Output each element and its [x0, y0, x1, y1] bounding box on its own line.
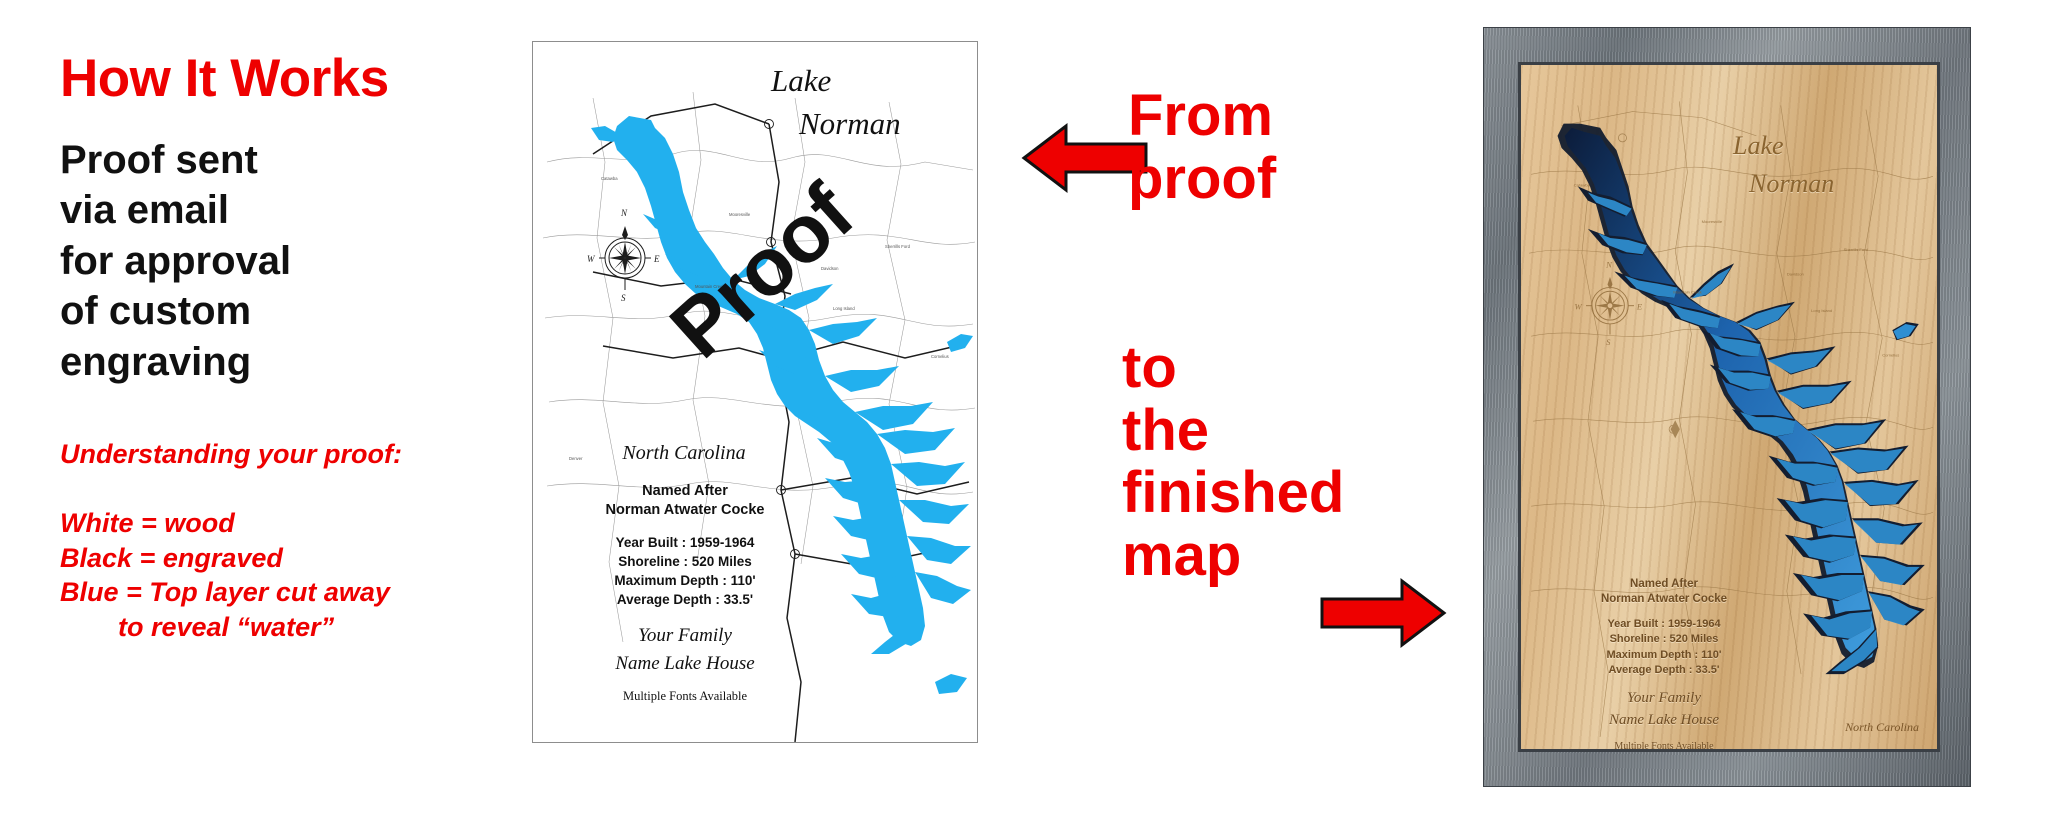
- proof-script-text: Your Family Name Lake House: [563, 622, 807, 677]
- wood-stat-average-depth: Average Depth : 33.5': [1559, 663, 1769, 678]
- proof-state-label: North Carolina: [569, 442, 799, 465]
- wood-script-text: Your Family Name Lake House: [1559, 688, 1769, 732]
- wood-named-after-label: Named After: [1559, 577, 1769, 592]
- wood-compass-label-s: S: [1606, 337, 1611, 346]
- compass-label-s: S: [621, 293, 626, 302]
- step-line: of custom: [60, 286, 480, 336]
- proof-stat-average-depth: Average Depth : 33.5': [563, 590, 807, 609]
- svg-text:Mountain Creek: Mountain Creek: [1673, 290, 1703, 295]
- proof-map-panel: .rd{fill:none;stroke:#4a4a4a;stroke-widt…: [532, 41, 978, 743]
- proof-named-after-value: Norman Atwater Cocke: [563, 501, 807, 520]
- wood-compass-label-w: W: [1574, 302, 1582, 312]
- wood-fonts-note: Multiple Fonts Available: [1559, 741, 1769, 749]
- proof-stats: Year Built : 1959-1964 Shoreline : 520 M…: [563, 533, 807, 610]
- compass-label-w: W: [587, 254, 596, 264]
- svg-text:Catawba: Catawba: [1574, 182, 1591, 187]
- svg-text:Mooresville: Mooresville: [729, 212, 751, 217]
- from-proof-line2: proof: [1128, 148, 1276, 211]
- wood-lake-title-line1: Lake: [1733, 131, 1784, 160]
- wood-compass-label-e: E: [1636, 302, 1643, 312]
- legend-item-blue: Blue = Top layer cut away: [60, 575, 480, 610]
- to-finished-map-caption: to the finished map: [1122, 337, 1344, 588]
- proof-lake-title: Lake Norman: [771, 60, 971, 146]
- wood-lake-title-line2: Norman: [1733, 165, 1923, 203]
- proof-stat-shoreline: Shoreline : 520 Miles: [563, 552, 807, 571]
- step-line: engraving: [60, 337, 480, 387]
- step-line: for approval: [60, 236, 480, 286]
- wood-stat-shoreline: Shoreline : 520 Miles: [1559, 632, 1769, 647]
- compass-label-n: N: [620, 208, 628, 218]
- frame-bevel: .wrd{fill:none;stroke:#9a7746;stroke-wid…: [1518, 62, 1940, 752]
- wood-info-block: Named After Norman Atwater Cocke Year Bu…: [1559, 577, 1769, 749]
- svg-text:Sherrills Ford: Sherrills Ford: [885, 244, 911, 249]
- wood-stat-maximum-depth: Maximum Depth : 110': [1559, 648, 1769, 663]
- to-finished-line1: to: [1122, 337, 1344, 400]
- svg-text:Catawba: Catawba: [601, 176, 618, 181]
- compass-rose-icon: N S W E: [585, 202, 665, 302]
- step-line: via email: [60, 185, 480, 235]
- from-proof-caption: From proof: [1128, 85, 1276, 210]
- step-line: Proof sent: [60, 135, 480, 185]
- wood-lake-title: Lake Norman: [1733, 127, 1923, 202]
- copy-column: How It Works Proof sent via email for ap…: [60, 52, 480, 644]
- framed-wood-map: .wrd{fill:none;stroke:#9a7746;stroke-wid…: [1484, 28, 1970, 786]
- wood-script-line1: Your Family: [1559, 688, 1769, 710]
- wood-compass-rose-icon: N S W E: [1571, 250, 1649, 346]
- steps-list: Proof sent via email for approval of cus…: [60, 135, 480, 387]
- how-it-works-graphic: How It Works Proof sent via email for ap…: [0, 0, 2048, 832]
- to-finished-line3: finished: [1122, 462, 1344, 525]
- legend-item-white: White = wood: [60, 506, 480, 541]
- proof-script-line1: Your Family: [563, 622, 807, 650]
- proof-lake-title-line2: Norman: [771, 103, 971, 146]
- legend-item-black: Black = engraved: [60, 541, 480, 576]
- wood-stats: Year Built : 1959-1964 Shoreline : 520 M…: [1559, 617, 1769, 679]
- svg-text:Long Island: Long Island: [1811, 308, 1832, 313]
- arrow-right-icon: [1318, 575, 1448, 651]
- compass-label-e: E: [653, 254, 660, 264]
- wood-state-label: North Carolina: [1845, 720, 1919, 735]
- to-finished-line2: the: [1122, 400, 1344, 463]
- proof-lake-title-line1: Lake: [771, 63, 831, 98]
- wood-compass-label-n: N: [1605, 259, 1613, 269]
- wood-stat-year-built: Year Built : 1959-1964: [1559, 617, 1769, 632]
- svg-text:Sherrills Ford: Sherrills Ford: [1844, 247, 1868, 252]
- wood-named-after: Named After Norman Atwater Cocke: [1559, 577, 1769, 607]
- proof-stat-year-built: Year Built : 1959-1964: [563, 533, 807, 552]
- wood-panel: .wrd{fill:none;stroke:#9a7746;stroke-wid…: [1521, 65, 1937, 749]
- page-title: How It Works: [60, 52, 480, 105]
- svg-text:Long Island: Long Island: [833, 306, 855, 311]
- proof-fonts-note: Multiple Fonts Available: [563, 689, 807, 704]
- legend-heading: Understanding your proof:: [60, 439, 480, 470]
- proof-stat-maximum-depth: Maximum Depth : 110': [563, 571, 807, 590]
- wood-script-line2: Name Lake House: [1559, 710, 1769, 732]
- svg-text:Cornelius: Cornelius: [931, 354, 949, 359]
- from-proof-line1: From: [1128, 85, 1276, 148]
- legend-list: White = wood Black = engraved Blue = Top…: [60, 506, 480, 644]
- legend-item-blue-cont: to reveal “water”: [60, 610, 480, 645]
- svg-text:Cornelius: Cornelius: [1882, 352, 1899, 357]
- svg-text:Mooresville: Mooresville: [1702, 219, 1723, 224]
- proof-script-line2: Name Lake House: [563, 650, 807, 678]
- proof-named-after-label: Named After: [563, 482, 807, 501]
- proof-info-block: Named After Norman Atwater Cocke Year Bu…: [563, 482, 807, 704]
- proof-named-after: Named After Norman Atwater Cocke: [563, 482, 807, 520]
- svg-text:Davidson: Davidson: [1787, 271, 1804, 276]
- to-finished-line4: map: [1122, 525, 1344, 588]
- wood-named-after-value: Norman Atwater Cocke: [1559, 592, 1769, 607]
